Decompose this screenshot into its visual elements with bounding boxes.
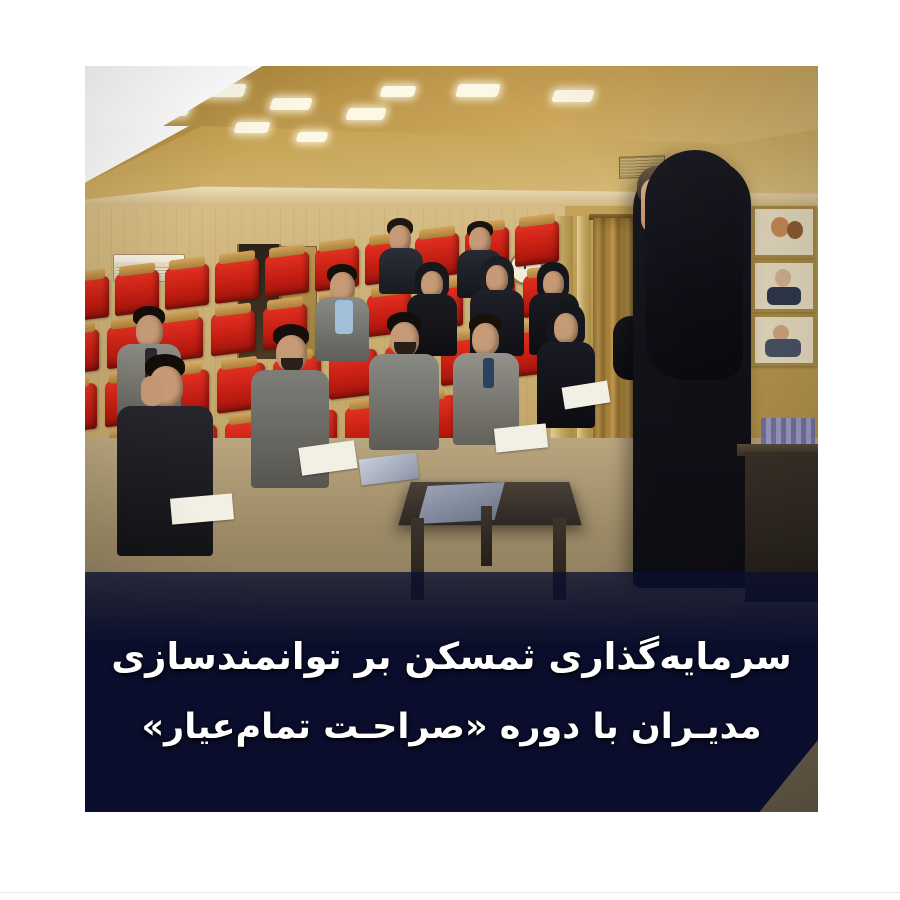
headline-line-1: سرمایه‌گذاری ثمسکن بر توانمندسازی: [111, 634, 791, 680]
footer: www.maskanco.ir شرکت گروه سرمایه‌گذاری م…: [0, 812, 900, 900]
headline-line-2: مدیـران با دوره «صراحـت تمام‌عیار»: [141, 706, 761, 750]
poster: سرمایه‌گذاری ثمسکن بر توانمندسازی مدیـرا…: [0, 0, 900, 900]
footer-divider: [0, 892, 900, 893]
headline-banner: سرمایه‌گذاری ثمسکن بر توانمندسازی مدیـرا…: [85, 572, 818, 812]
